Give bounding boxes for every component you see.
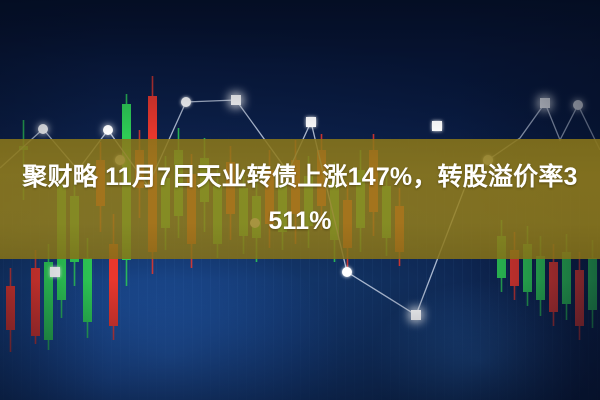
news-thumbnail-image: 聚财略 11月7日天业转债上涨147%，转股溢价率3 511% <box>0 0 600 400</box>
headline-text: 聚财略 11月7日天业转债上涨147%，转股溢价率3 511% <box>0 155 600 243</box>
